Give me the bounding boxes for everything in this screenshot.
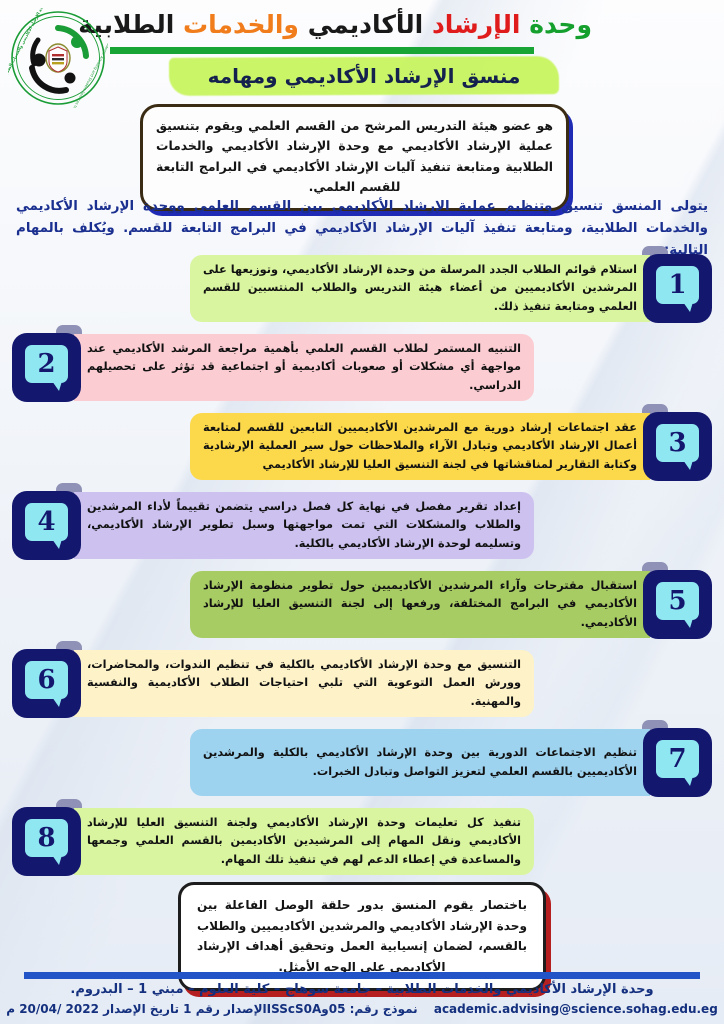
footer-meta: academic.advising@science.sohag.edu.eg ن…: [0, 1002, 724, 1016]
poster-header: وحدة الإرشاد الأكاديمي والخدمات الطلابية…: [0, 0, 724, 112]
task-number: 8: [25, 819, 68, 857]
form-number: نموذج رقم: 05وISScS0Aالإصدار رقم 1 تاريخ…: [6, 1002, 417, 1016]
task-text: التنسيق مع وحدة الإرشاد الأكاديمي بالكلي…: [87, 656, 521, 711]
task-number-badge: 8: [12, 807, 81, 876]
task-item: عقد اجتماعات إرشاد دورية مع المرشدين الأ…: [0, 410, 724, 486]
task-number-badge: 3: [643, 412, 712, 481]
task-number-badge: 2: [12, 333, 81, 402]
title-word-3: الأكاديمي: [308, 10, 424, 39]
task-panel: استلام قوائم الطلاب الجدد المرسلة من وحد…: [190, 255, 650, 322]
task-number-badge: 6: [12, 649, 81, 718]
task-panel: عقد اجتماعات إرشاد دورية مع المرشدين الأ…: [190, 413, 650, 480]
title-divider-rule: [110, 47, 534, 54]
task-item: إعداد تقرير مفصل في نهاية كل فصل دراسي ي…: [0, 489, 724, 565]
intro-text: هو عضو هيئة التدريس المرشح من القسم العل…: [156, 116, 553, 198]
footer-address: وحدة الإرشاد الأكاديمي والخدمات الطلابية…: [0, 982, 724, 997]
speech-bubble-icon: 7: [656, 740, 699, 778]
task-item: التنسيق مع وحدة الإرشاد الأكاديمي بالكلي…: [0, 647, 724, 723]
summary-text: باختصار يقوم المنسق بدور حلقة الوصل الفا…: [197, 895, 527, 977]
speech-bubble-icon: 8: [25, 819, 68, 857]
task-number-badge: 1: [643, 254, 712, 323]
task-text: إعداد تقرير مفصل في نهاية كل فصل دراسي ي…: [87, 498, 521, 553]
task-item: تنظيم الاجتماعات الدورية بين وحدة الإرشا…: [0, 726, 724, 802]
unit-logo-icon: وحدة الإرشاد الأكاديمي والخدمات الطلابية…: [8, 8, 108, 108]
task-panel: التنسيق مع وحدة الإرشاد الأكاديمي بالكلي…: [74, 650, 534, 717]
poster-root: وحدة الإرشاد الأكاديمي والخدمات الطلابية…: [0, 0, 724, 1024]
task-number: 1: [656, 266, 699, 304]
task-number-badge: 4: [12, 491, 81, 560]
task-item: استقبال مقترحات وآراء المرشدين الأكاديمي…: [0, 568, 724, 644]
tasks-list: استلام قوائم الطلاب الجدد المرسلة من وحد…: [0, 252, 724, 884]
task-number: 6: [25, 661, 68, 699]
task-number: 5: [656, 582, 699, 620]
task-item: استلام قوائم الطلاب الجدد المرسلة من وحد…: [0, 252, 724, 328]
task-panel: تنظيم الاجتماعات الدورية بين وحدة الإرشا…: [190, 729, 650, 796]
task-number: 7: [656, 740, 699, 778]
task-text: استلام قوائم الطلاب الجدد المرسلة من وحد…: [203, 261, 637, 316]
task-item: تنفيذ كل تعليمات وحدة الإرشاد الأكاديمي …: [0, 805, 724, 881]
speech-bubble-icon: 6: [25, 661, 68, 699]
task-number: 2: [25, 345, 68, 383]
task-panel: التنبيه المستمر لطلاب القسم العلمي بأهمي…: [74, 334, 534, 401]
contact-email[interactable]: academic.advising@science.sohag.edu.eg: [434, 1002, 718, 1016]
task-panel: تنفيذ كل تعليمات وحدة الإرشاد الأكاديمي …: [74, 808, 534, 875]
speech-bubble-icon: 5: [656, 582, 699, 620]
task-text: تنظيم الاجتماعات الدورية بين وحدة الإرشا…: [203, 744, 637, 781]
task-text: استقبال مقترحات وآراء المرشدين الأكاديمي…: [203, 577, 637, 632]
task-panel: إعداد تقرير مفصل في نهاية كل فصل دراسي ي…: [74, 492, 534, 559]
task-text: عقد اجتماعات إرشاد دورية مع المرشدين الأ…: [203, 419, 637, 474]
task-number-badge: 7: [643, 728, 712, 797]
task-number: 3: [656, 424, 699, 462]
speech-bubble-icon: 1: [656, 266, 699, 304]
task-item: التنبيه المستمر لطلاب القسم العلمي بأهمي…: [0, 331, 724, 407]
page-title: وحدة الإرشاد الأكاديمي والخدمات الطلابية: [132, 11, 592, 40]
task-text: تنفيذ كل تعليمات وحدة الإرشاد الأكاديمي …: [87, 814, 521, 869]
title-word-2: الإرشاد: [432, 10, 521, 39]
speech-bubble-icon: 3: [656, 424, 699, 462]
task-number-badge: 5: [643, 570, 712, 639]
speech-bubble-icon: 2: [25, 345, 68, 383]
task-number: 4: [25, 503, 68, 541]
task-panel: استقبال مقترحات وآراء المرشدين الأكاديمي…: [190, 571, 650, 638]
task-text: التنبيه المستمر لطلاب القسم العلمي بأهمي…: [87, 340, 521, 395]
title-word-1: وحدة: [529, 10, 592, 39]
subtitle-container: منسق الإرشاد الأكاديمي ومهامه: [169, 57, 559, 95]
intro-definition-box: هو عضو هيئة التدريس المرشح من القسم العل…: [140, 104, 569, 211]
footer-divider-rule: [24, 972, 700, 979]
subtitle: منسق الإرشاد الأكاديمي ومهامه: [169, 57, 559, 95]
speech-bubble-icon: 4: [25, 503, 68, 541]
title-word-4: والخدمات: [183, 10, 299, 39]
